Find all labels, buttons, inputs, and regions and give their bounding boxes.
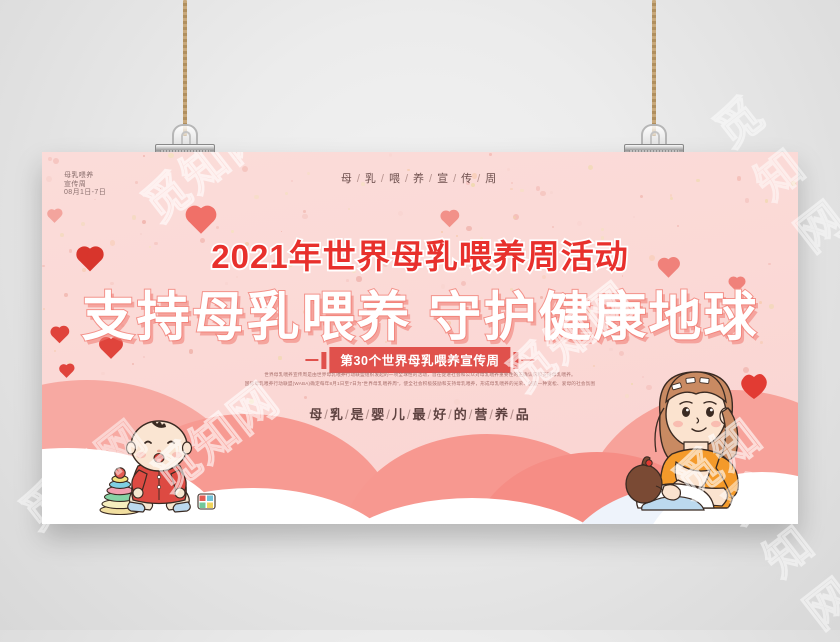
confetti-dot [677,225,679,227]
separator: / [405,173,411,185]
heart-icon [48,210,61,223]
confetti-dot [577,221,582,226]
confetti-dot [143,356,145,358]
confetti-dot [619,351,624,356]
separator: / [453,173,459,185]
page-title-red: 2021年世界母乳喂养周活动 [42,230,798,278]
confetti-dot [48,157,52,161]
kicker-char: 养 [413,173,427,185]
slogan-char: 是 [351,407,366,422]
ribbon-tail-right [522,359,535,361]
slogan-char: 乳 [330,407,345,422]
confetti-dot [132,363,134,365]
slogan-char: 养 [495,407,510,422]
confetti-dot [303,210,306,213]
confetti-dot [640,195,643,198]
confetti-dot [513,216,516,219]
slogan-char: 营 [474,407,489,422]
confetti-dot [550,191,553,194]
confetti-dot [216,226,219,229]
rope-left [183,0,187,136]
poster-canvas: 母乳喂养 宣传周 08月1日-7日 母/乳/喂/养/宣/传/周 2021年世界母… [42,152,798,524]
kicker-char: 喂 [389,173,403,185]
slogan-line: 母/乳/是/婴/儿/最/好/的/营/养/品 [42,404,798,423]
confetti-dot [765,199,768,202]
confetti-dot [489,153,492,156]
confetti-dot [348,208,350,210]
confetti-dot [670,197,673,200]
separator: / [477,173,483,185]
confetti-dot [168,153,173,158]
slogan-char: 品 [516,407,531,422]
confetti-dot [132,215,136,219]
kicker-char: 宣 [437,173,451,185]
confetti-dot [304,396,307,399]
slogan-char: 母 [309,407,324,422]
confetti-dot [169,199,175,205]
clip-handle-icon [641,124,667,146]
confetti-dot [536,186,541,191]
description-line-1: 世界母乳喂养宣传周是由世界母乳喂养行动联盟组织发起的一项全球性的活动，旨在促进社… [42,370,798,379]
confetti-dot [285,192,288,195]
confetti-dot [53,158,59,164]
separator: / [429,173,435,185]
slogan-char: 婴 [371,407,386,422]
confetti-dot [143,155,145,157]
confetti-dot [302,214,307,219]
confetti-dot [278,356,281,359]
page-title-text: 2021年世界母乳喂养周活动 [211,238,628,275]
rope-right [652,0,656,136]
confetti-dot [389,153,393,157]
separator: / [357,173,363,185]
confetti-dot [398,211,403,216]
slogan-char: 儿 [392,407,407,422]
heart-icon [442,212,458,228]
illustration-baby-left [98,420,228,516]
confetti-dot [254,195,259,200]
confetti-dot [94,199,96,201]
description-paragraph: 世界母乳喂养宣传周是由世界母乳喂养行动联盟组织发起的一项全球性的活动，旨在促进社… [42,370,798,388]
confetti-dot [633,216,636,219]
confetti-dot [520,189,524,193]
confetti-dot [593,365,595,367]
slogan-char: 好 [433,407,448,422]
kicker-char: 乳 [365,173,379,185]
confetti-dot [81,222,85,226]
kicker-line: 母/乳/喂/养/宣/传/周 [42,170,798,186]
clip-handle-icon [172,124,198,146]
kicker-char: 传 [461,173,475,185]
kicker-char: 周 [485,173,499,185]
confetti-dot [142,220,147,225]
ribbon-cap-left [321,352,326,369]
toy-block [198,494,215,509]
confetti-dot [154,194,156,196]
confetti-dot [540,191,546,197]
ribbon-tail-left [305,359,318,361]
confetti-dot [510,188,513,191]
kicker-char: 母 [341,173,355,185]
separator: / [381,173,387,185]
headline: 支持母乳喂养 守护健康地球 [42,275,798,351]
ribbon-cap-right [514,352,519,369]
confetti-dot [160,187,163,190]
slogan-char: 的 [454,407,469,422]
slogan-char: 最 [412,407,427,422]
confetti-dot [745,198,750,203]
confetti-dot [552,226,554,228]
description-line-2: 国际母乳喂养行动联盟(WABA)确定每年8月1日至7日为“世界母乳喂养周”，使全… [42,379,798,388]
